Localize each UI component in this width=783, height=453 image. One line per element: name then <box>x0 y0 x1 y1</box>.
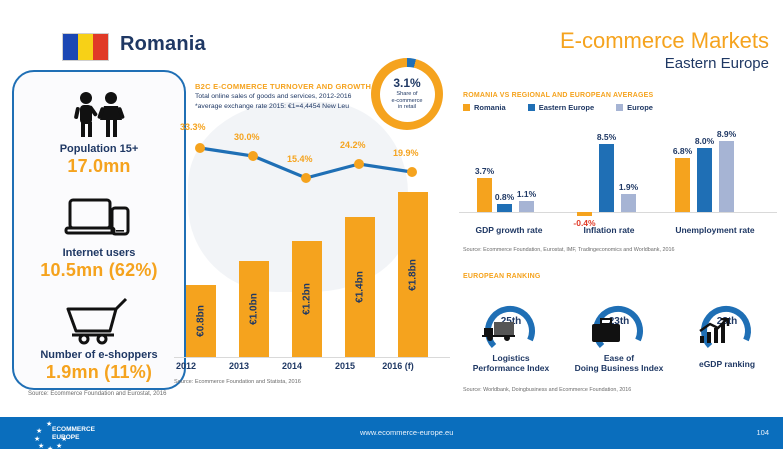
growth-label: 33.3% <box>180 122 206 132</box>
turnover-note: *average exchange rate 2015: €1=4,4454 N… <box>195 103 349 110</box>
kpi-label: Population 15+ <box>14 143 184 155</box>
growth-label: 24.2% <box>340 140 366 150</box>
gbar-value: 8.5% <box>597 132 616 142</box>
ranking-label-2: Doing Business Index <box>575 363 664 373</box>
laptop-icon <box>14 190 184 246</box>
gbar-unemp-europe: 8.9% <box>719 141 734 212</box>
legend-swatch-eastern-europe <box>528 104 535 111</box>
ranking-row: 25th Logistics Performance Index <box>459 300 781 400</box>
gbar-value: 0.8% <box>495 192 514 202</box>
averages-bar-chart: 3.7% 0.8% 1.1% GDP growth rate -0.4% 8.5… <box>459 120 779 235</box>
bar-value: €1.0bn <box>249 293 260 325</box>
legend-swatch-europe <box>616 104 623 111</box>
slide-root: Romania <box>0 0 783 449</box>
gbar-inflation-romania: -0.4% <box>577 212 592 216</box>
bar-2015: €1.4bn <box>345 217 375 357</box>
bar-2013: €1.0bn <box>239 261 269 357</box>
gbar-value: 6.8% <box>673 146 692 156</box>
legend-item-romania: Romania <box>463 103 506 112</box>
gcat-gdp: GDP growth rate <box>459 225 559 235</box>
gbar-inflation-europe: 1.9% <box>621 194 636 212</box>
x-label-2015: 2015 <box>319 361 371 371</box>
shopping-cart-icon <box>14 292 184 348</box>
gbar-unemp-romania: 6.8% <box>675 158 690 212</box>
logo-line-2: EUROPE <box>52 434 79 441</box>
section-ranking-heading: EUROPEAN RANKING <box>463 273 540 280</box>
bar-value: €1.4bn <box>355 271 366 303</box>
logo-line-1: ECOMMERCE <box>52 426 95 433</box>
gbar-value: 1.9% <box>619 182 638 192</box>
kpi-value: 17.0mn <box>14 156 184 177</box>
ranking-doing-business: 23th Ease of Doing Business Index <box>567 300 671 374</box>
turnover-subtitle: Total online sales of goods and services… <box>195 93 351 100</box>
gcat-unemployment: Unemployment rate <box>657 225 773 235</box>
donut-value: 3.1% <box>393 77 420 91</box>
donut-caption-3: in retail <box>398 104 416 110</box>
kpi-card: Population 15+ 17.0mn Internet users 10.… <box>12 70 186 390</box>
ecommerce-europe-logo: ★ ★ ★ ★ ★ ★ ★ ECOMMERCE EUROPE <box>34 420 106 448</box>
ranking-label-1: Logistics <box>492 353 529 363</box>
page-subtitle: Eastern Europe <box>665 55 769 72</box>
gbar-gdp-romania: 3.7% <box>477 178 492 212</box>
ranking-label-2: Performance Index <box>473 363 550 373</box>
people-icon <box>14 86 184 142</box>
bar-value: €0.8bn <box>196 305 207 337</box>
right-panel: E-commerce Markets Eastern Europe ROMANI… <box>455 0 783 415</box>
legend-item-eastern-europe: Eastern Europe <box>528 103 594 112</box>
briefcase-icon <box>590 318 622 344</box>
turnover-bar-chart: €0.8bn €1.0bn €1.2bn €1.4bn €1.8bn <box>174 188 450 358</box>
ranking-logistics: 25th Logistics Performance Index <box>459 300 563 374</box>
chart-baseline <box>459 212 777 213</box>
gbar-value: 3.7% <box>475 166 494 176</box>
averages-source: Source: Ecommerce Foundation, Eurostat, … <box>463 247 674 253</box>
kpi-source: Source: Ecommerce Foundation and Eurosta… <box>28 391 166 397</box>
growth-rate-line-chart: 33.3% 30.0% 15.4% 24.2% 19.9% <box>168 120 450 192</box>
gbar-value: 8.0% <box>695 136 714 146</box>
kpi-population: Population 15+ 17.0mn <box>14 86 184 177</box>
footer-url[interactable]: www.ecommerce-europe.eu <box>360 428 453 437</box>
growth-label: 15.4% <box>287 154 313 164</box>
x-label-2016: 2016 (f) <box>372 361 424 371</box>
legend-item-europe: Europe <box>616 103 653 112</box>
gbar-gdp-europe: 1.1% <box>519 201 534 212</box>
turnover-title: B2C E-COMMERCE TURNOVER AND GROWTH RATE <box>195 82 394 91</box>
gcat-inflation: Inflation rate <box>563 225 655 235</box>
kpi-label: Internet users <box>14 247 184 259</box>
growth-label: 30.0% <box>234 132 260 142</box>
growth-label: 19.9% <box>393 148 419 158</box>
bar-2016: €1.8bn <box>398 192 428 357</box>
gbar-unemp-eastern: 8.0% <box>697 148 712 212</box>
section-averages-heading: ROMANIA VS REGIONAL AND EUROPEAN AVERAGE… <box>463 92 653 99</box>
gbar-inflation-eastern: 8.5% <box>599 144 614 212</box>
kpi-label: Number of e-shoppers <box>14 349 184 361</box>
bar-value: €1.2bn <box>302 283 313 315</box>
ranking-egdp: 28th eGDP ranking <box>675 300 779 370</box>
romania-flag-icon <box>62 33 109 61</box>
donut-caption-1: Share of <box>396 91 417 97</box>
ranking-label-1: Ease of <box>604 353 634 363</box>
bar-value: €1.8bn <box>408 259 419 291</box>
turnover-panel: B2C E-COMMERCE TURNOVER AND GROWTH RATE … <box>168 76 450 391</box>
donut-caption-2: e-commerce <box>391 98 422 104</box>
gbar-value: 8.9% <box>717 129 736 139</box>
growth-chart-icon <box>698 318 730 344</box>
x-label-2013: 2013 <box>213 361 265 371</box>
ranking-label-1: eGDP ranking <box>699 359 755 369</box>
footer-bar: ★ ★ ★ ★ ★ ★ ★ ECOMMERCE EUROPE www.ecomm… <box>0 417 783 449</box>
x-label-2012: 2012 <box>160 361 212 371</box>
averages-legend: Romania Eastern Europe Europe <box>463 103 653 112</box>
legend-label: Europe <box>627 103 653 112</box>
legend-label: Romania <box>474 103 506 112</box>
truck-icon <box>482 318 516 342</box>
turnover-source: Source: Ecommerce Foundation and Statist… <box>174 379 301 385</box>
bar-2014: €1.2bn <box>292 241 322 357</box>
legend-swatch-romania <box>463 104 470 111</box>
x-label-2014: 2014 <box>266 361 318 371</box>
bar-2012: €0.8bn <box>186 285 216 357</box>
legend-label: Eastern Europe <box>539 103 594 112</box>
ranking-source: Source: Worldbank, Doingbusiness and Eco… <box>463 387 631 393</box>
country-title: Romania <box>120 33 206 56</box>
kpi-value: 10.5mn (62%) <box>14 260 184 281</box>
page-title: E-commerce Markets <box>560 28 769 54</box>
gbar-value: 1.1% <box>517 189 536 199</box>
gbar-gdp-eastern: 0.8% <box>497 204 512 212</box>
kpi-value: 1.9mn (11%) <box>14 362 184 383</box>
kpi-eshoppers: Number of e-shoppers 1.9mn (11%) <box>14 292 184 383</box>
page-number: 104 <box>756 428 769 437</box>
kpi-internet-users: Internet users 10.5mn (62%) <box>14 190 184 281</box>
